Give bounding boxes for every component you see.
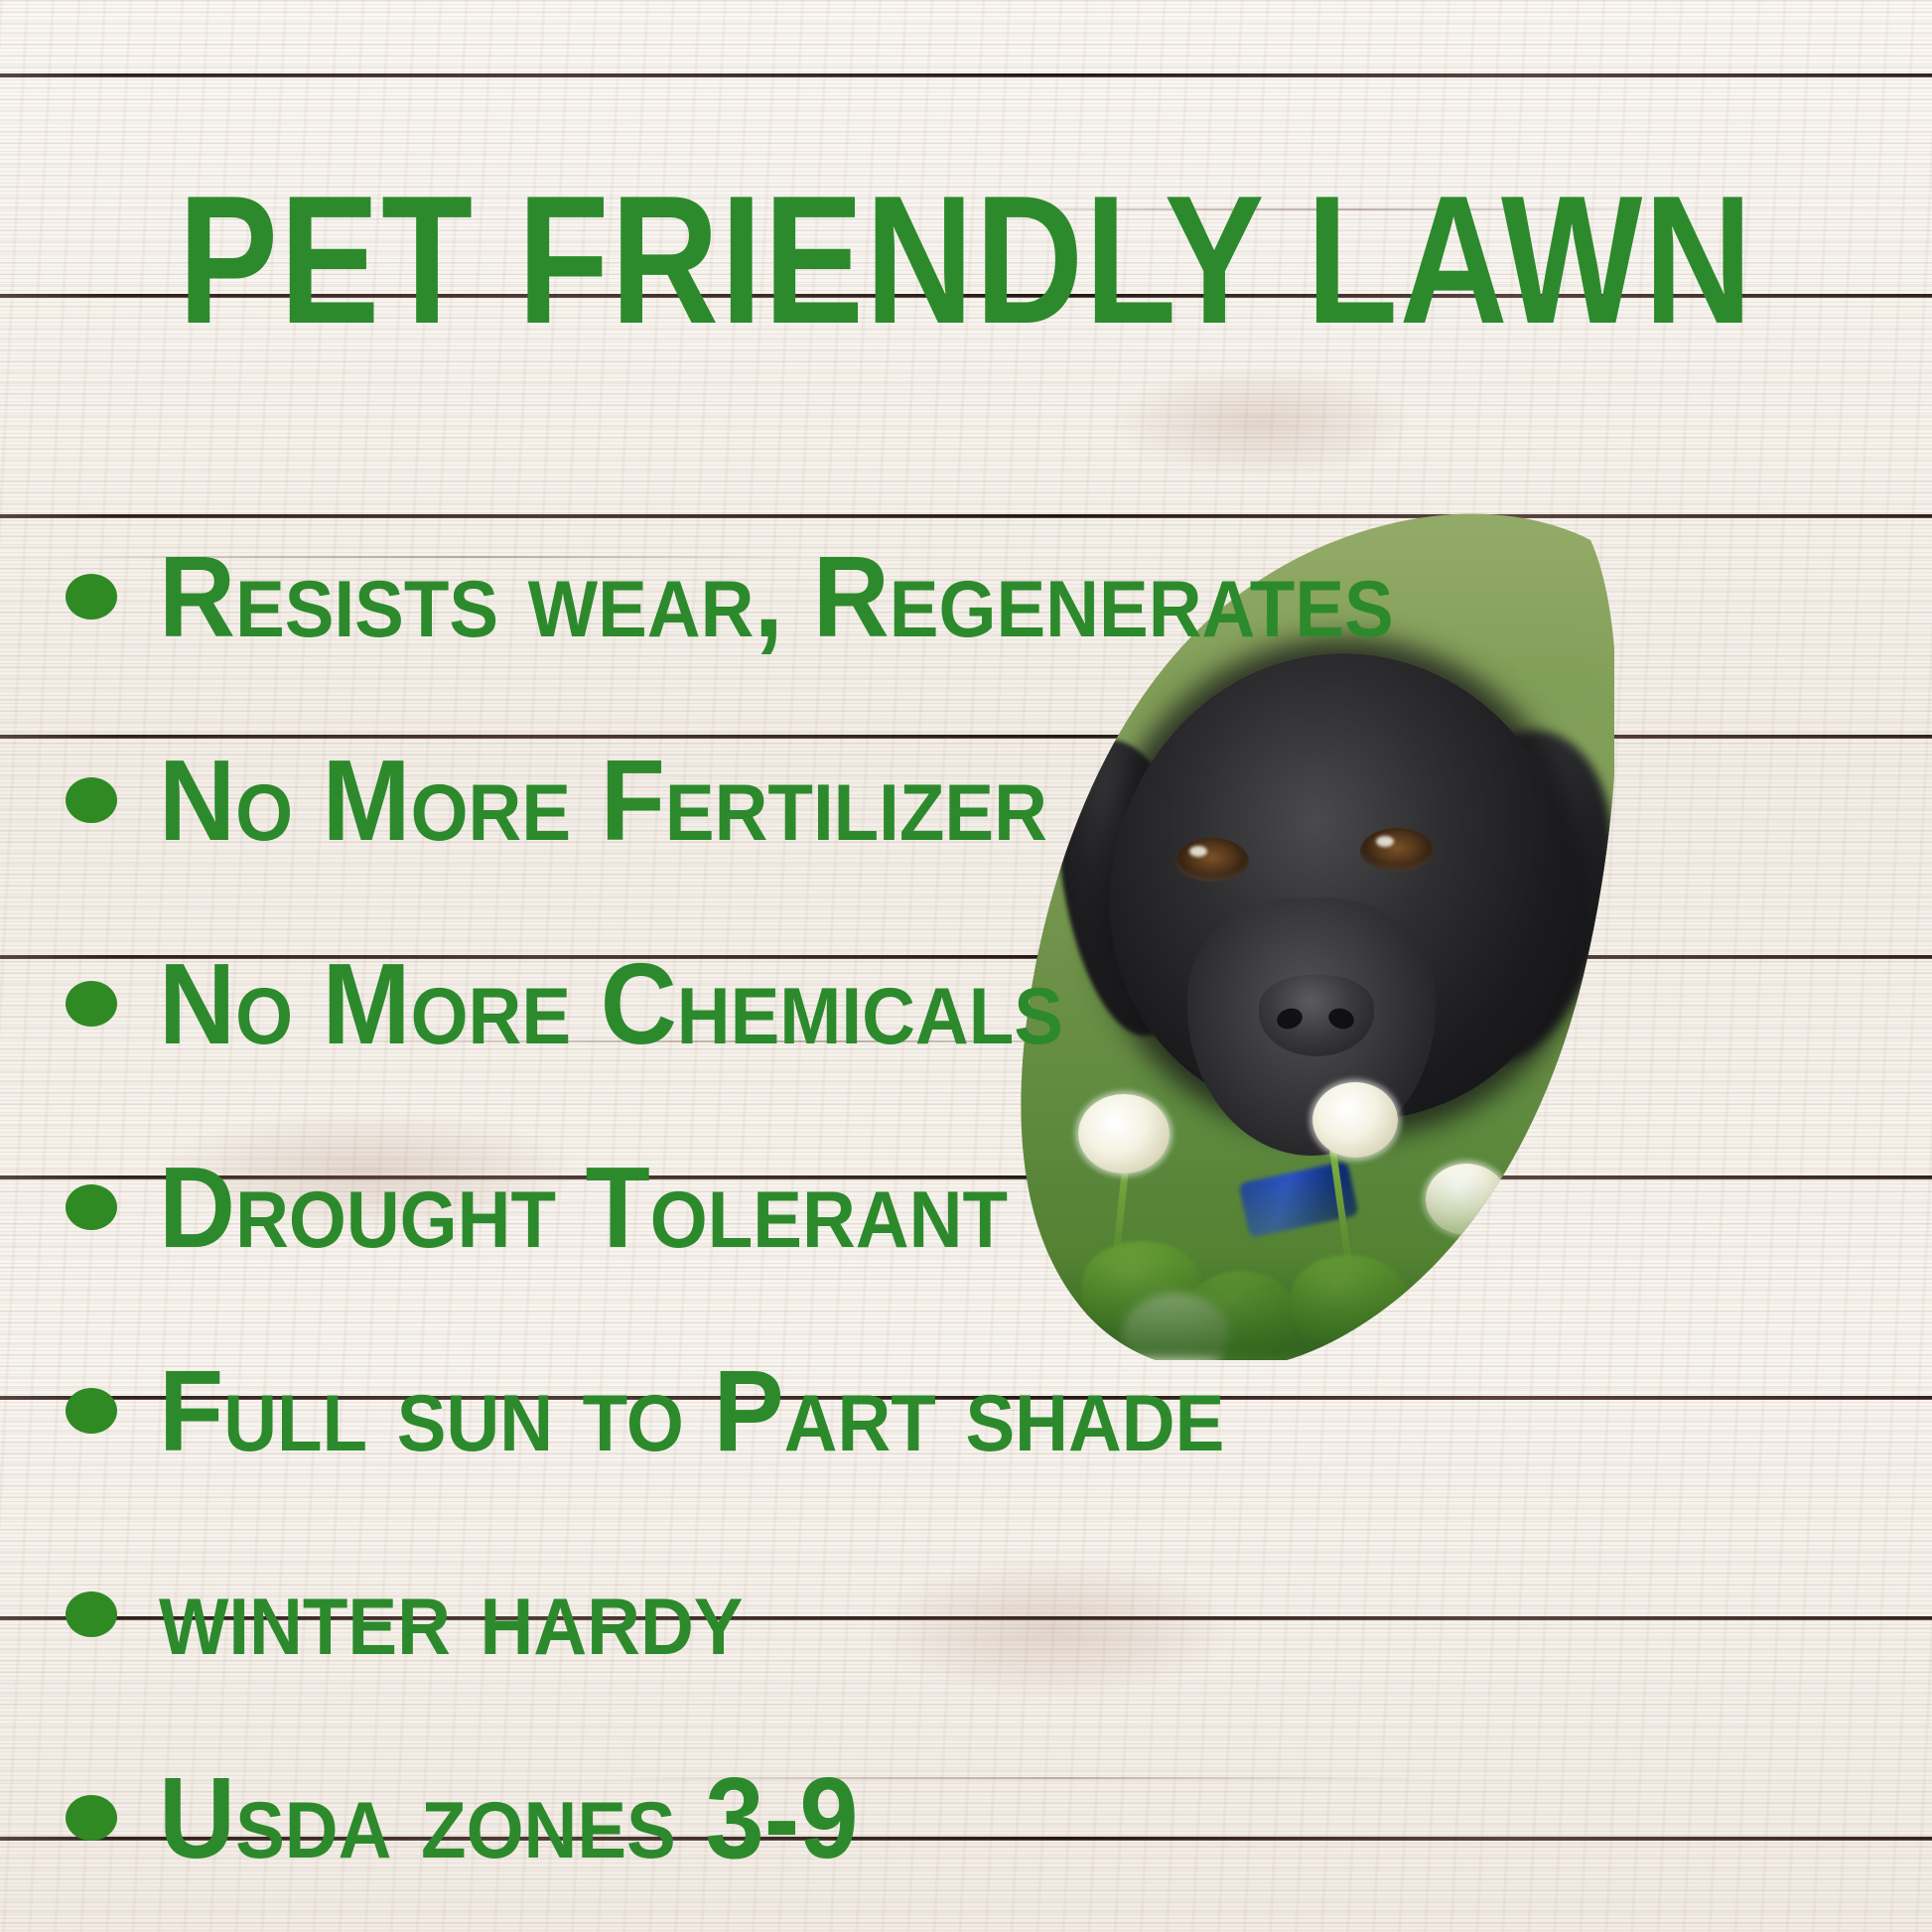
feature-label: winter hardy [159,1557,744,1672]
dog-eye-right [1360,828,1434,872]
feature-list: Resists wear, Regenerates No More Fertil… [66,494,1316,1919]
list-item: Usda zones 3-9 [66,1716,1316,1919]
poster-canvas: Pet Friendly Lawn [0,0,1932,1932]
feature-label: Full sun to Part shade [159,1353,1224,1468]
plank-seam [0,73,1932,76]
feature-label: Drought Tolerant [159,1150,1008,1265]
list-item: No More Chemicals [66,901,1316,1105]
bullet-icon [66,981,117,1027]
feature-label: No More Fertilizer [159,743,1047,858]
page-title: Pet Friendly Lawn [174,168,1758,350]
eye-highlight [1376,836,1394,847]
feature-label: Resists wear, Regenerates [159,539,1394,654]
nostril [1326,1005,1357,1032]
list-item: Resists wear, Regenerates [66,494,1316,698]
bullet-icon [66,1795,117,1841]
list-item: winter hardy [66,1512,1316,1716]
wood-knot [1112,367,1410,477]
feature-label: Usda zones 3-9 [159,1760,859,1875]
feature-label: No More Chemicals [159,946,1063,1061]
bullet-icon [66,1184,117,1230]
clover-flower [1312,1082,1398,1158]
list-item: Drought Tolerant [66,1105,1316,1309]
bullet-icon [66,777,117,823]
bullet-icon [66,574,117,620]
list-item: Full sun to Part shade [66,1309,1316,1512]
bullet-icon [66,1388,117,1434]
list-item: No More Fertilizer [66,698,1316,901]
bullet-icon [66,1591,117,1637]
